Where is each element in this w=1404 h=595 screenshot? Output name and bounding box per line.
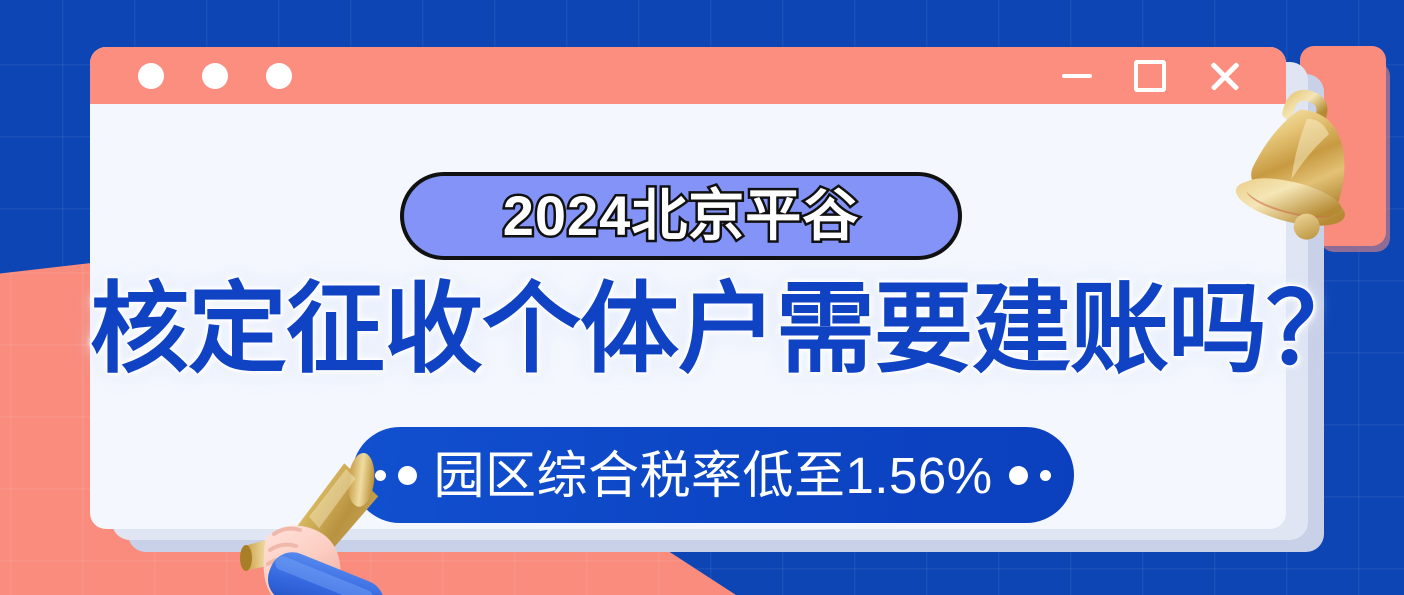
window-card: 2024北京平谷 核定征收个体户需要建账吗？ 园区综合税率低至1.56% (90, 47, 1286, 529)
window-title-bar (90, 47, 1286, 104)
maximize-icon[interactable] (1134, 60, 1166, 92)
megaphone-icon (214, 442, 414, 595)
minimize-icon[interactable] (1062, 74, 1092, 78)
close-icon[interactable] (1208, 59, 1242, 93)
traffic-light-group (138, 63, 292, 89)
title-badge: 2024北京平谷 (400, 172, 962, 260)
page-title: 核定征收个体户需要建账吗？ (90, 279, 1286, 378)
traffic-light-dot-3[interactable] (266, 63, 292, 89)
dot-small-right (1040, 470, 1051, 481)
traffic-light-dot-2[interactable] (202, 63, 228, 89)
dot-large-right (1009, 466, 1028, 485)
traffic-light-dot-1[interactable] (138, 63, 164, 89)
window-content: 2024北京平谷 核定征收个体户需要建账吗？ 园区综合税率低至1.56% (90, 104, 1286, 529)
subtitle-label: 园区综合税率低至1.56% (433, 450, 992, 501)
subtitle-dots-right (1009, 466, 1051, 485)
subtitle-pill: 园区综合税率低至1.56% (352, 427, 1074, 523)
window-controls (1062, 59, 1242, 93)
title-badge-label: 2024北京平谷 (503, 188, 860, 244)
